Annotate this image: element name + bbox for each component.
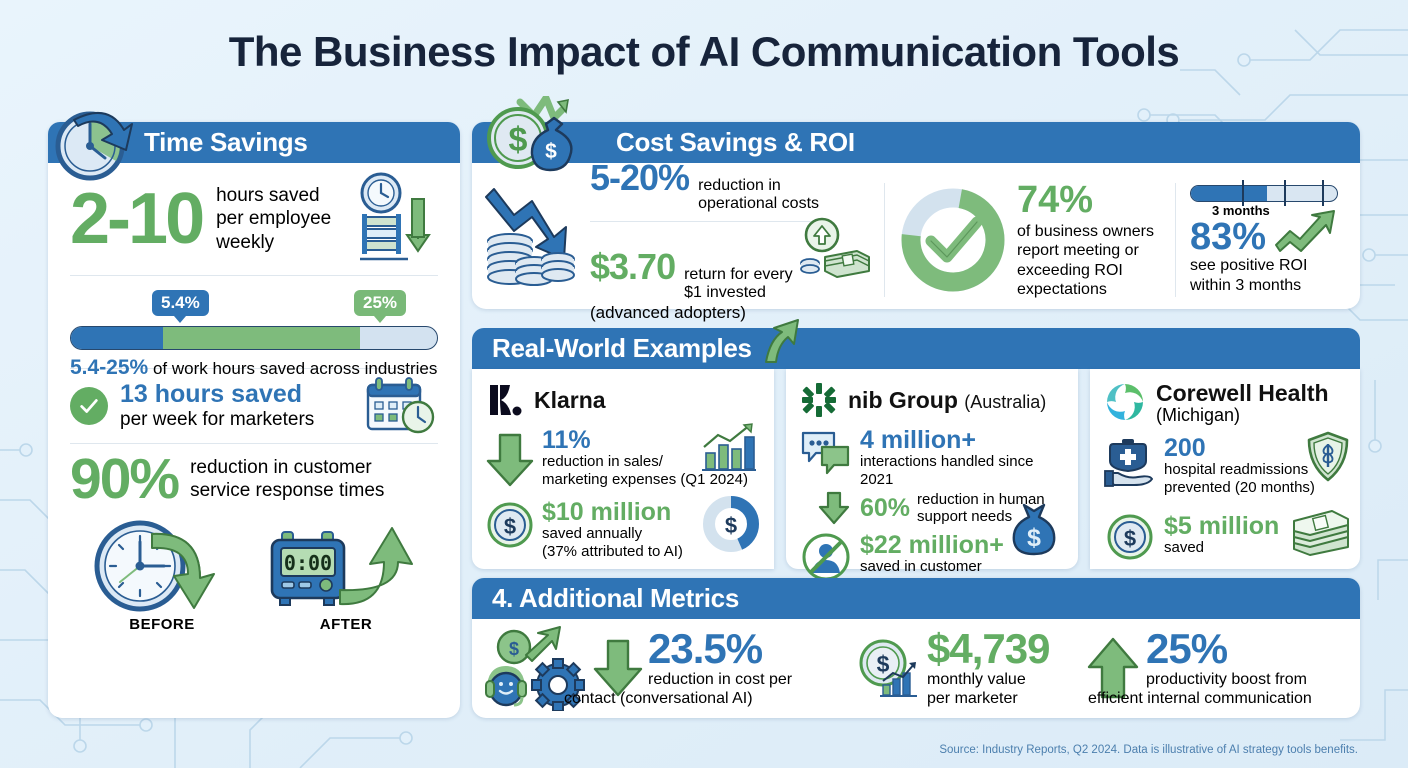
svg-text:$: $: [1027, 524, 1041, 552]
nib-metric-1: 4 million+ interactions handled since 20…: [800, 427, 1064, 489]
svg-text:$: $: [509, 639, 519, 659]
divider: [590, 221, 814, 222]
medical-hand-icon: [1104, 435, 1156, 487]
cost-savings-header: Cost Savings & ROI: [472, 122, 1360, 163]
klarna-metric-2-value: $10 million: [542, 499, 683, 525]
nib-group-logo-icon: [800, 381, 838, 419]
additional-cost-label: reduction in cost per contact (conversat…: [648, 670, 792, 708]
roi-timeline-track: [1190, 185, 1338, 202]
bar-chart-up-icon: [700, 423, 758, 473]
svg-text:$: $: [545, 140, 557, 163]
nib-metric-2-value: $22 million+: [860, 532, 1004, 558]
corewell-metric-1: 200 hospital readmissions prevented (20 …: [1104, 435, 1346, 497]
money-bag-growth-icon: $ $: [484, 96, 590, 178]
calendar-clock-icon: [360, 375, 438, 437]
additional-productivity-value: 25%: [1146, 628, 1312, 670]
additional-metrics-header: 4. Additional Metrics: [472, 578, 1360, 619]
meter-segment-blue: [71, 327, 163, 349]
klarna-metric-2-text: $10 million saved annually (37% attribut…: [542, 499, 683, 561]
stat-response-label: reduction in customer service response t…: [190, 456, 384, 502]
stat-response-time: 90% reduction in customer service respon…: [70, 444, 438, 514]
stat-roi-expectations: 74% of business owners report meeting or…: [1017, 181, 1154, 299]
meter-caption: 5.4-25% of work hours saved across indus…: [70, 356, 437, 380]
klarna-header: Klarna: [486, 379, 760, 421]
digital-timer-up-arrow-icon: 0:00: [266, 518, 426, 614]
stat-roi-timeframe: 83%: [1190, 218, 1338, 256]
green-up-arrow-icon: [760, 318, 804, 364]
work-hours-meter: 5.4% 25% 5.4-25% of work hours saved acr…: [70, 290, 438, 368]
small-down-arrow-icon: [808, 491, 860, 525]
source-note: Source: Industry Reports, Q2 2024. Data …: [939, 744, 1358, 756]
stat-return-note: (advanced adopters): [590, 303, 873, 323]
nib-metric-1-text: 4 million+ interactions handled since 20…: [860, 427, 1064, 489]
no-person-icon: [800, 532, 852, 582]
before-after-comparison: BEFORE 0:00 AFTER: [70, 518, 438, 633]
klarna-logo-icon: [486, 381, 524, 419]
chat-bubbles-icon: [800, 429, 852, 475]
clock-arrow-icon: [50, 106, 138, 186]
coins-down-arrow-icon: [480, 181, 584, 299]
corewell-metric-2: $ $5 million saved: [1104, 513, 1346, 561]
stat-return-on-investment: $3.70 return for every $1 invested: [590, 229, 873, 303]
nib-metric-1-value: 4 million+: [860, 427, 1064, 453]
additional-metrics-header-label: 4. Additional Metrics: [492, 583, 739, 614]
time-savings-header-label: Time Savings: [144, 127, 308, 158]
real-world-header: Real-World Examples: [472, 328, 1360, 369]
stat-marketers-value: 13 hours saved: [120, 381, 314, 409]
cost-column-roi-expectations: 74% of business owners report meeting or…: [885, 171, 1175, 309]
corewell-metric-1-value: 200: [1164, 435, 1315, 461]
klarna-metric-2: $ $10 million saved annually (37% attrib…: [486, 499, 760, 561]
green-down-arrow-icon: [486, 431, 534, 489]
svg-text:$: $: [504, 514, 516, 539]
roi-timeline-tick: [1242, 180, 1244, 206]
stat-marketers-text: 13 hours saved per week for marketers: [120, 381, 314, 430]
stat-hours-value: 2-10: [70, 183, 202, 255]
stat-response-value: 90%: [70, 451, 178, 508]
corewell-metric-2-text: $5 million saved: [1164, 513, 1279, 557]
stat-roi-time-value: 83%: [1190, 218, 1266, 256]
cost-savings-header-label: Cost Savings & ROI: [616, 127, 855, 158]
svg-text:$: $: [509, 121, 528, 159]
corewell-subtitle: (Michigan): [1156, 405, 1329, 426]
up-arrow-circle-cash-icon: [799, 217, 873, 279]
dollar-donut-icon: $: [702, 495, 760, 553]
before-cell: BEFORE: [70, 518, 254, 633]
additional-item-productivity: 25% productivity boost from efficient in…: [1072, 628, 1360, 708]
nib-metric-1b-value: 60%: [860, 495, 910, 521]
stat-roi-time-label: see positive ROI within 3 months: [1190, 256, 1338, 294]
stat-roi-expect-value: 74%: [1017, 181, 1154, 219]
medical-shield-icon: [1306, 431, 1350, 483]
divider: [70, 275, 438, 276]
stat-marketers: 13 hours saved per week for marketers: [70, 369, 438, 443]
additional-cost-value: 23.5%: [648, 628, 792, 670]
corewell-health-logo-icon: [1104, 381, 1146, 423]
cost-column-operational: 5-20% reduction in operational costs $3.…: [472, 171, 884, 309]
stat-hours-label: hours saved per employee weekly: [216, 184, 331, 254]
check-circle-icon: [70, 387, 108, 425]
dollar-coin-icon: $: [1104, 513, 1156, 561]
additional-monthly-value: $4,739: [927, 628, 1049, 670]
additional-productivity-label: productivity boost from efficient intern…: [1146, 670, 1312, 708]
corewell-metric-1-text: 200 hospital readmissions prevented (20 …: [1164, 435, 1315, 497]
stat-operational-costs: 5-20% reduction in operational costs: [590, 157, 873, 214]
after-cell: 0:00 AFTER: [254, 518, 438, 633]
stat-return-label: return for every $1 invested: [684, 266, 792, 303]
nib-group-name: nib Group (Australia): [848, 387, 1046, 414]
analog-clock-down-arrow-icon: [82, 518, 242, 614]
corewell-metric-2-value: $5 million: [1164, 513, 1279, 539]
svg-text:0:00: 0:00: [284, 551, 332, 575]
growth-arrow-icon: [1272, 207, 1338, 253]
stat-roi-expect-label: of business owners report meeting or exc…: [1017, 222, 1154, 299]
stat-operational-value: 5-20%: [590, 157, 689, 199]
stat-return-value: $3.70: [590, 246, 675, 288]
dollar-bar-chart-icon: $: [857, 637, 919, 699]
klarna-name: Klarna: [534, 387, 606, 414]
clock-stack-down-arrow-icon: [358, 171, 434, 267]
roi-timeline-fill: [1191, 186, 1267, 201]
klarna-metric-1: 11% reduction in sales/ marketing expens…: [486, 427, 760, 489]
stat-operational-label: reduction in operational costs: [698, 177, 819, 214]
before-label: BEFORE: [70, 616, 254, 633]
additional-item-cost-per-contact: $: [472, 625, 842, 711]
real-world-card-nib-group: nib Group (Australia) 4 million+ interac…: [786, 369, 1078, 569]
cost-column-roi-timeframe: 3 months 83% see positive ROI within 3 m…: [1176, 171, 1360, 309]
real-world-header-label: Real-World Examples: [492, 333, 752, 364]
svg-text:$: $: [1124, 526, 1136, 551]
svg-text:$: $: [725, 513, 737, 538]
panel-cost-savings-roi: Cost Savings & ROI: [472, 122, 1360, 309]
after-label: AFTER: [254, 616, 438, 633]
stat-marketers-label: per week for marketers: [120, 409, 314, 431]
roi-timeline-tick: [1284, 180, 1286, 206]
meter-low-badge: 5.4%: [152, 290, 209, 316]
meter-track: [70, 326, 438, 350]
additional-monthly-label: monthly value per marketer: [927, 670, 1049, 708]
svg-text:$: $: [877, 651, 890, 677]
corewell-name: Corewell Health: [1156, 381, 1329, 405]
nib-group-header: nib Group (Australia): [800, 379, 1064, 421]
panel-additional-metrics: 4. Additional Metrics $: [472, 578, 1360, 718]
donut-check-icon: [897, 184, 1009, 296]
roi-timeline-tick: [1322, 180, 1324, 206]
real-world-card-klarna: Klarna 11% reduction in sales/ marketing…: [472, 369, 774, 569]
page-title: The Business Impact of AI Communication …: [0, 28, 1408, 76]
money-bag-icon: $: [1006, 501, 1060, 557]
panel-time-savings: Time Savings 2-10 hours saved per employ…: [48, 122, 460, 718]
meter-segment-green: [163, 327, 361, 349]
real-world-card-corewell-health: Corewell Health (Michigan) 200 hospital …: [1090, 369, 1360, 569]
cash-stack-icon: [1290, 507, 1352, 557]
corewell-header: Corewell Health (Michigan): [1104, 379, 1346, 431]
dollar-coin-icon: $: [486, 501, 534, 549]
meter-high-badge: 25%: [354, 290, 406, 316]
additional-item-monthly-value: $ $4,739 monthly value per marketer: [843, 628, 1071, 708]
